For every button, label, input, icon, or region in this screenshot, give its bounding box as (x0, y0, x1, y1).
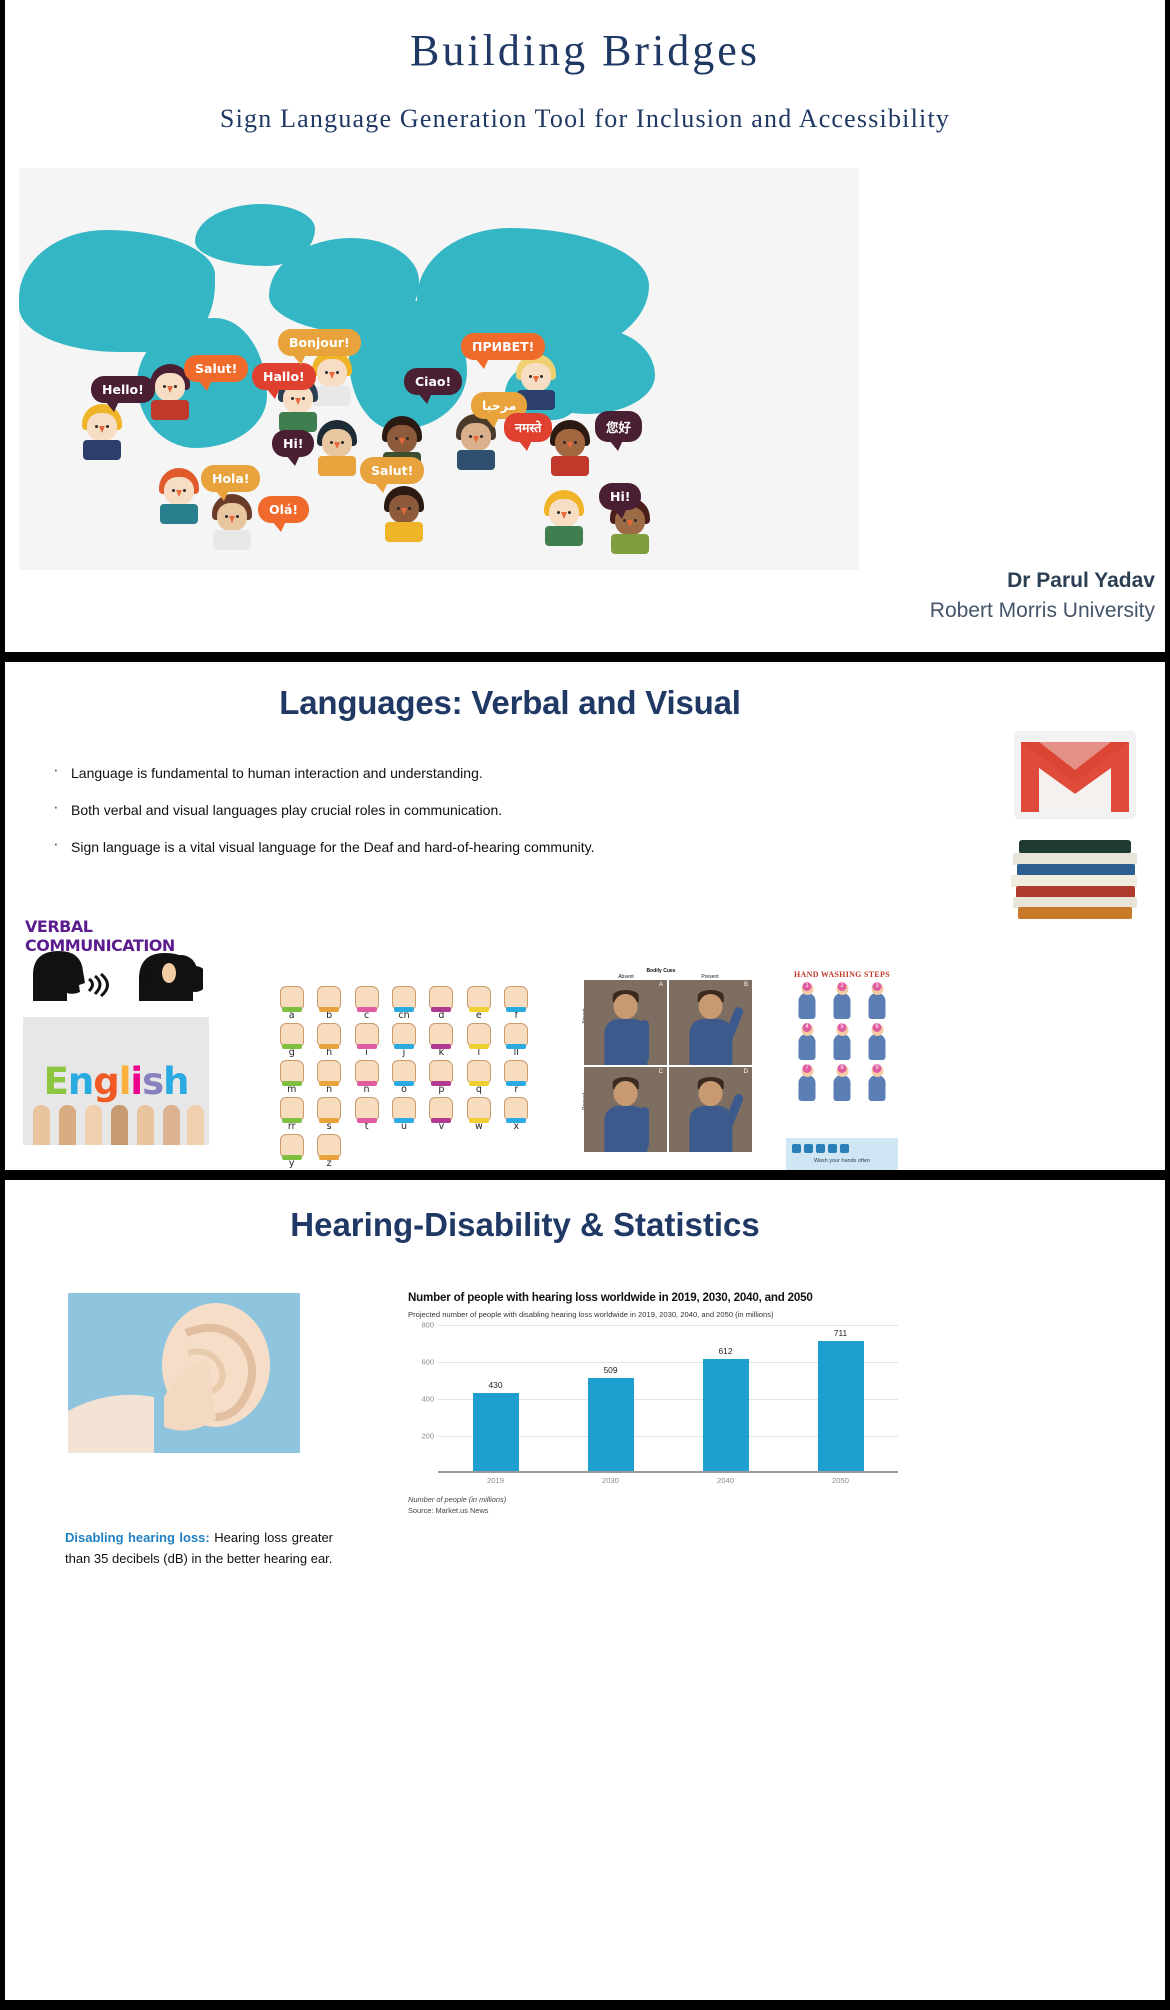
asl-hand-icon (355, 1023, 379, 1047)
speech-bubble-tail (105, 401, 119, 412)
asl-letter-cell: e (461, 986, 496, 1021)
asl-letter-cell: u (386, 1097, 421, 1132)
handwash-figure (834, 1075, 851, 1101)
asl-hand-icon (392, 1023, 416, 1047)
presentation-title: Building Bridges (5, 25, 1165, 76)
speech-bubble: Hi! (599, 483, 641, 510)
chart-bar-column: 711 (783, 1325, 898, 1472)
person-figure (79, 404, 125, 458)
asl-wristband (506, 1081, 526, 1086)
avatar-arm (640, 1020, 649, 1062)
asl-wristband (357, 1118, 377, 1123)
chart-bar-value: 509 (604, 1365, 618, 1375)
handwash-step-icon (816, 1144, 825, 1153)
speech-bubble: Ciao! (404, 368, 462, 395)
asl-hand-icon (280, 1134, 304, 1158)
asl-wristband (282, 1155, 302, 1160)
handwash-step-icon (792, 1144, 801, 1153)
handwash-step: 9 (861, 1065, 893, 1103)
chart-x-axis-labels: 2019203020402050 (438, 1476, 898, 1485)
asl-wristband (394, 1081, 414, 1086)
avatar-cell: C (584, 1067, 667, 1152)
asl-letter-cell: f (499, 986, 534, 1021)
chart-subtitle: Projected number of people with disablin… (408, 1310, 898, 1319)
speech-bubble-tail (418, 393, 432, 404)
asl-hand-icon (467, 1023, 491, 1047)
speech-bubble-tail (609, 440, 623, 451)
asl-letter-cell: z (311, 1134, 346, 1169)
bullet-item: Both verbal and visual languages play cr… (49, 802, 749, 818)
avatar-face (698, 994, 723, 1020)
asl-letter-cell: v (424, 1097, 459, 1132)
speech-bubble-tail (266, 388, 280, 399)
asl-hand-icon (280, 986, 304, 1010)
world-map-greetings-image: Hello!Salut!Hallo!Bonjour!Ciao!ПРИВЕТ!مر… (19, 168, 859, 570)
disabling-hearing-loss-caption: Disabling hearing loss: Hearing loss gre… (65, 1527, 333, 1569)
chart-x-label: 2040 (668, 1476, 783, 1485)
asl-wristband (431, 1007, 451, 1012)
asl-hand-icon (504, 1060, 528, 1084)
handwash-step: 2 (826, 983, 858, 1021)
speech-bubble: Hola! (201, 465, 260, 492)
asl-wristband (357, 1044, 377, 1049)
asl-wristband (282, 1044, 302, 1049)
asl-hand-icon (280, 1060, 304, 1084)
author-block: Dr Parul Yadav Robert Morris University (930, 566, 1155, 627)
avatar-face (698, 1081, 723, 1107)
handwash-step-number: 7 (803, 1064, 812, 1073)
asl-wristband (469, 1081, 489, 1086)
asl-hand-icon (467, 986, 491, 1010)
asl-letter-cell: rr (274, 1097, 309, 1132)
asl-hand-icon (317, 986, 341, 1010)
slide-deck: Building Bridges Sign Language Generatio… (0, 0, 1170, 2010)
english-letters-photo: English (23, 1017, 209, 1145)
asl-letter-cell: ch (386, 986, 421, 1021)
asl-hand-icon (392, 1060, 416, 1084)
chart-y-tick: 800 (421, 1320, 434, 1329)
handwash-figure (799, 1034, 816, 1060)
handwash-step-icon (828, 1144, 837, 1153)
chart-y-axis: 200400600800 (408, 1325, 438, 1473)
handwash-step: 6 (861, 1024, 893, 1062)
asl-letter-cell: l (461, 1023, 496, 1058)
avatar-face (613, 994, 638, 1020)
asl-wristband (431, 1118, 451, 1123)
speech-bubble: नमस्ते (504, 413, 552, 442)
chart-bars: 430509612711 (438, 1325, 898, 1472)
speech-bubble-tail (475, 358, 489, 369)
handwash-step-number: 1 (803, 982, 812, 991)
asl-letter-cell: n (311, 1060, 346, 1095)
slide-title-languages: Languages: Verbal and Visual (5, 684, 1165, 722)
handwash-step-number: 4 (803, 1023, 812, 1032)
asl-wristband (282, 1118, 302, 1123)
chart-bar (473, 1393, 519, 1472)
asl-letter-cell: k (424, 1023, 459, 1058)
speech-bubble: Olá! (258, 496, 309, 523)
handwash-step-number: 6 (873, 1023, 882, 1032)
author-name: Dr Parul Yadav (930, 566, 1155, 596)
speech-bubble-tail (374, 482, 388, 493)
chart-bar-column: 430 (438, 1325, 553, 1472)
handwash-figure (799, 1075, 816, 1101)
books-stack-icon (1011, 840, 1139, 924)
english-word: English (44, 1060, 189, 1103)
asl-letter-cell: h (311, 1023, 346, 1058)
asl-hand-icon (504, 986, 528, 1010)
head-silhouette-icon (23, 945, 203, 1001)
asl-hand-icon (504, 1023, 528, 1047)
asl-hand-icon (392, 986, 416, 1010)
person-figure (547, 420, 593, 474)
asl-letter-cell: x (499, 1097, 534, 1132)
speech-bubble: Hello! (91, 376, 155, 403)
chart-bar (588, 1378, 634, 1471)
asl-hand-icon (429, 1097, 453, 1121)
asl-wristband (282, 1081, 302, 1086)
asl-hand-icon (317, 1134, 341, 1158)
person-figure (314, 420, 360, 474)
chart-title: Number of people with hearing loss world… (408, 1291, 898, 1306)
asl-wristband (394, 1118, 414, 1123)
chart-y-tick: 400 (421, 1394, 434, 1403)
asl-wristband (506, 1007, 526, 1012)
gmail-icon (1015, 732, 1135, 818)
asl-letter-cell: ll (499, 1023, 534, 1058)
chart-bar-column: 509 (553, 1325, 668, 1472)
slide-title: Building Bridges Sign Language Generatio… (0, 0, 1170, 652)
avatar-cell: D (669, 1067, 752, 1152)
avatar-bodily-cues-panel: Bodily Cues Absent Present Absent Presen… (570, 968, 752, 1170)
person-figure (381, 486, 427, 540)
speech-bubble: 您好 (595, 411, 642, 442)
asl-letter-cell: d (424, 986, 459, 1021)
slide-divider (0, 1170, 1170, 1180)
asl-letter-cell: t (349, 1097, 384, 1132)
speech-bubble: Salut! (184, 355, 248, 382)
asl-wristband (394, 1044, 414, 1049)
chart-bar-value: 430 (489, 1380, 503, 1390)
asl-wristband (469, 1007, 489, 1012)
asl-hand-icon (280, 1023, 304, 1047)
speaking-listening-silhouettes (23, 945, 203, 1001)
speech-bubble: Salut! (360, 457, 424, 484)
avatar-arm (640, 1107, 649, 1149)
asl-wristband (319, 1081, 339, 1086)
asl-hand-icon (429, 1060, 453, 1084)
bullet-item: Sign language is a vital visual language… (49, 839, 749, 855)
asl-letter-cell: c (349, 986, 384, 1021)
chart-x-label: 2019 (438, 1476, 553, 1485)
asl-hand-icon (317, 1097, 341, 1121)
asl-letter-cell: s (311, 1097, 346, 1132)
hands-row (23, 1103, 209, 1145)
asl-fingerspelling-chart: abcchdefghijklllmnñopqrrrstuvwxyz hablar… (270, 982, 538, 1170)
speech-bubble-tail (272, 521, 286, 532)
avatar-cell: A (584, 980, 667, 1065)
chart-bar (818, 1341, 864, 1471)
handwash-step-number: 3 (873, 982, 882, 991)
handwash-step-number: 9 (873, 1064, 882, 1073)
presentation-subtitle: Sign Language Generation Tool for Inclus… (5, 104, 1165, 134)
bullet-item: Language is fundamental to human interac… (49, 765, 749, 781)
asl-hand-icon (280, 1097, 304, 1121)
handwash-footer-band: Wash your hands often (786, 1138, 898, 1170)
asl-letter-cell: g (274, 1023, 309, 1058)
asl-wristband (394, 1007, 414, 1012)
person-figure (209, 494, 255, 548)
handwash-figure (869, 1075, 886, 1101)
asl-wristband (319, 1007, 339, 1012)
asl-letter-cell: ñ (349, 1060, 384, 1095)
chart-source: Source: Market.us News (408, 1506, 898, 1515)
chart-y-tick: 600 (421, 1357, 434, 1366)
slide-hearing-statistics: Hearing-Disability & Statistics Number o… (0, 1180, 1170, 2000)
chart-bar-column: 612 (668, 1325, 783, 1472)
asl-wristband (357, 1081, 377, 1086)
asl-wristband (357, 1007, 377, 1012)
chart-x-label: 2050 (783, 1476, 898, 1485)
speech-bubble-tail (613, 508, 627, 519)
speech-bubble: Hallo! (252, 363, 316, 390)
asl-wristband (431, 1044, 451, 1049)
asl-hand-icon (392, 1097, 416, 1121)
handwash-figure (834, 1034, 851, 1060)
asl-hand-icon (317, 1023, 341, 1047)
asl-letter-cell: q (461, 1060, 496, 1095)
asl-wristband (319, 1155, 339, 1160)
handwash-step-number: 8 (838, 1064, 847, 1073)
gmail-envelope-icon (1015, 732, 1135, 818)
hand-washing-steps-poster: HAND WASHING STEPS 123456789 Wash your h… (786, 968, 898, 1170)
chart-bar (703, 1359, 749, 1471)
caption-term: Disabling hearing loss: (65, 1530, 210, 1545)
hearing-loss-bar-chart: Number of people with hearing loss world… (408, 1291, 898, 1551)
chart-footnote: Number of people (in millions) (408, 1495, 898, 1504)
asl-wristband (431, 1081, 451, 1086)
handwash-step: 7 (791, 1065, 823, 1103)
handwash-figure (869, 1034, 886, 1060)
slide-divider (0, 652, 1170, 662)
avatar-cell: B (669, 980, 752, 1065)
avatar-face (613, 1081, 638, 1107)
asl-wristband (319, 1044, 339, 1049)
speech-bubble-tail (518, 440, 532, 451)
asl-wristband (469, 1118, 489, 1123)
speech-bubble: Hi! (272, 430, 314, 457)
handwash-step-number: 2 (838, 982, 847, 991)
speech-bubble-tail (198, 380, 212, 391)
speech-bubble-tail (485, 417, 499, 428)
chart-x-label: 2030 (553, 1476, 668, 1485)
asl-letter-cell: p (424, 1060, 459, 1095)
asl-wristband (282, 1007, 302, 1012)
person-figure (156, 468, 202, 522)
handwash-figure (869, 993, 886, 1019)
handwash-step: 3 (861, 983, 893, 1021)
avatar-cell-label: D (744, 1069, 748, 1075)
handwash-step: 1 (791, 983, 823, 1021)
asl-letter-cell: o (386, 1060, 421, 1095)
slide-divider (0, 2000, 1170, 2010)
child-ear-photo (68, 1293, 300, 1453)
chart-bar-value: 711 (834, 1328, 847, 1338)
handwash-step: 5 (826, 1024, 858, 1062)
asl-letter-cell: j (386, 1023, 421, 1058)
asl-hand-icon (355, 986, 379, 1010)
slide-title-hearing: Hearing-Disability & Statistics (5, 1206, 1165, 1244)
bullet-list: Language is fundamental to human interac… (49, 765, 749, 876)
asl-hand-icon (429, 1023, 453, 1047)
chart-y-tick: 200 (421, 1431, 434, 1440)
avatar-cell-label: A (659, 982, 663, 988)
asl-hand-icon (467, 1097, 491, 1121)
handwash-step: 8 (826, 1065, 858, 1103)
speech-bubble: Bonjour! (278, 329, 361, 356)
asl-letter-cell: y (274, 1134, 309, 1169)
speech-bubble-tail (286, 455, 300, 466)
person-figure (541, 490, 587, 544)
asl-hand-icon (355, 1097, 379, 1121)
chart-plot-area: 200400600800 430509612711 (408, 1325, 898, 1473)
asl-hand-icon (317, 1060, 341, 1084)
asl-wristband (469, 1044, 489, 1049)
chart-bar-value: 612 (719, 1346, 733, 1356)
asl-letter-cell: i (349, 1023, 384, 1058)
chart-baseline (438, 1471, 898, 1473)
handwash-figure (834, 993, 851, 1019)
asl-letter-cell: r (499, 1060, 534, 1095)
asl-letter-cell: m (274, 1060, 309, 1095)
asl-hand-icon (504, 1097, 528, 1121)
avatar-cell-label: B (744, 982, 748, 988)
asl-wristband (319, 1118, 339, 1123)
handwash-step-icon (840, 1144, 849, 1153)
asl-hand-icon (467, 1060, 491, 1084)
speech-bubble-tail (215, 490, 229, 501)
handwash-step: 4 (791, 1024, 823, 1062)
handwash-figure (799, 993, 816, 1019)
author-affiliation: Robert Morris University (930, 596, 1155, 626)
handwash-title: HAND WASHING STEPS (786, 970, 898, 979)
cupped-ear-illustration (68, 1293, 300, 1453)
asl-hand-icon (355, 1060, 379, 1084)
handwash-step-icon (804, 1144, 813, 1153)
handwash-step-number: 5 (838, 1023, 847, 1032)
asl-letter-cell: a (274, 986, 309, 1021)
handwash-icon-row (792, 1144, 849, 1153)
slide-languages: Languages: Verbal and Visual Language is… (0, 662, 1170, 1170)
asl-wristband (506, 1044, 526, 1049)
avatar-cell-label: C (659, 1069, 663, 1075)
asl-letter-cell: b (311, 986, 346, 1021)
speech-bubble: ПРИВЕТ! (461, 333, 545, 360)
speech-bubble-tail (292, 354, 306, 365)
asl-letter-cell: w (461, 1097, 496, 1132)
asl-wristband (506, 1118, 526, 1123)
asl-hand-icon (429, 986, 453, 1010)
